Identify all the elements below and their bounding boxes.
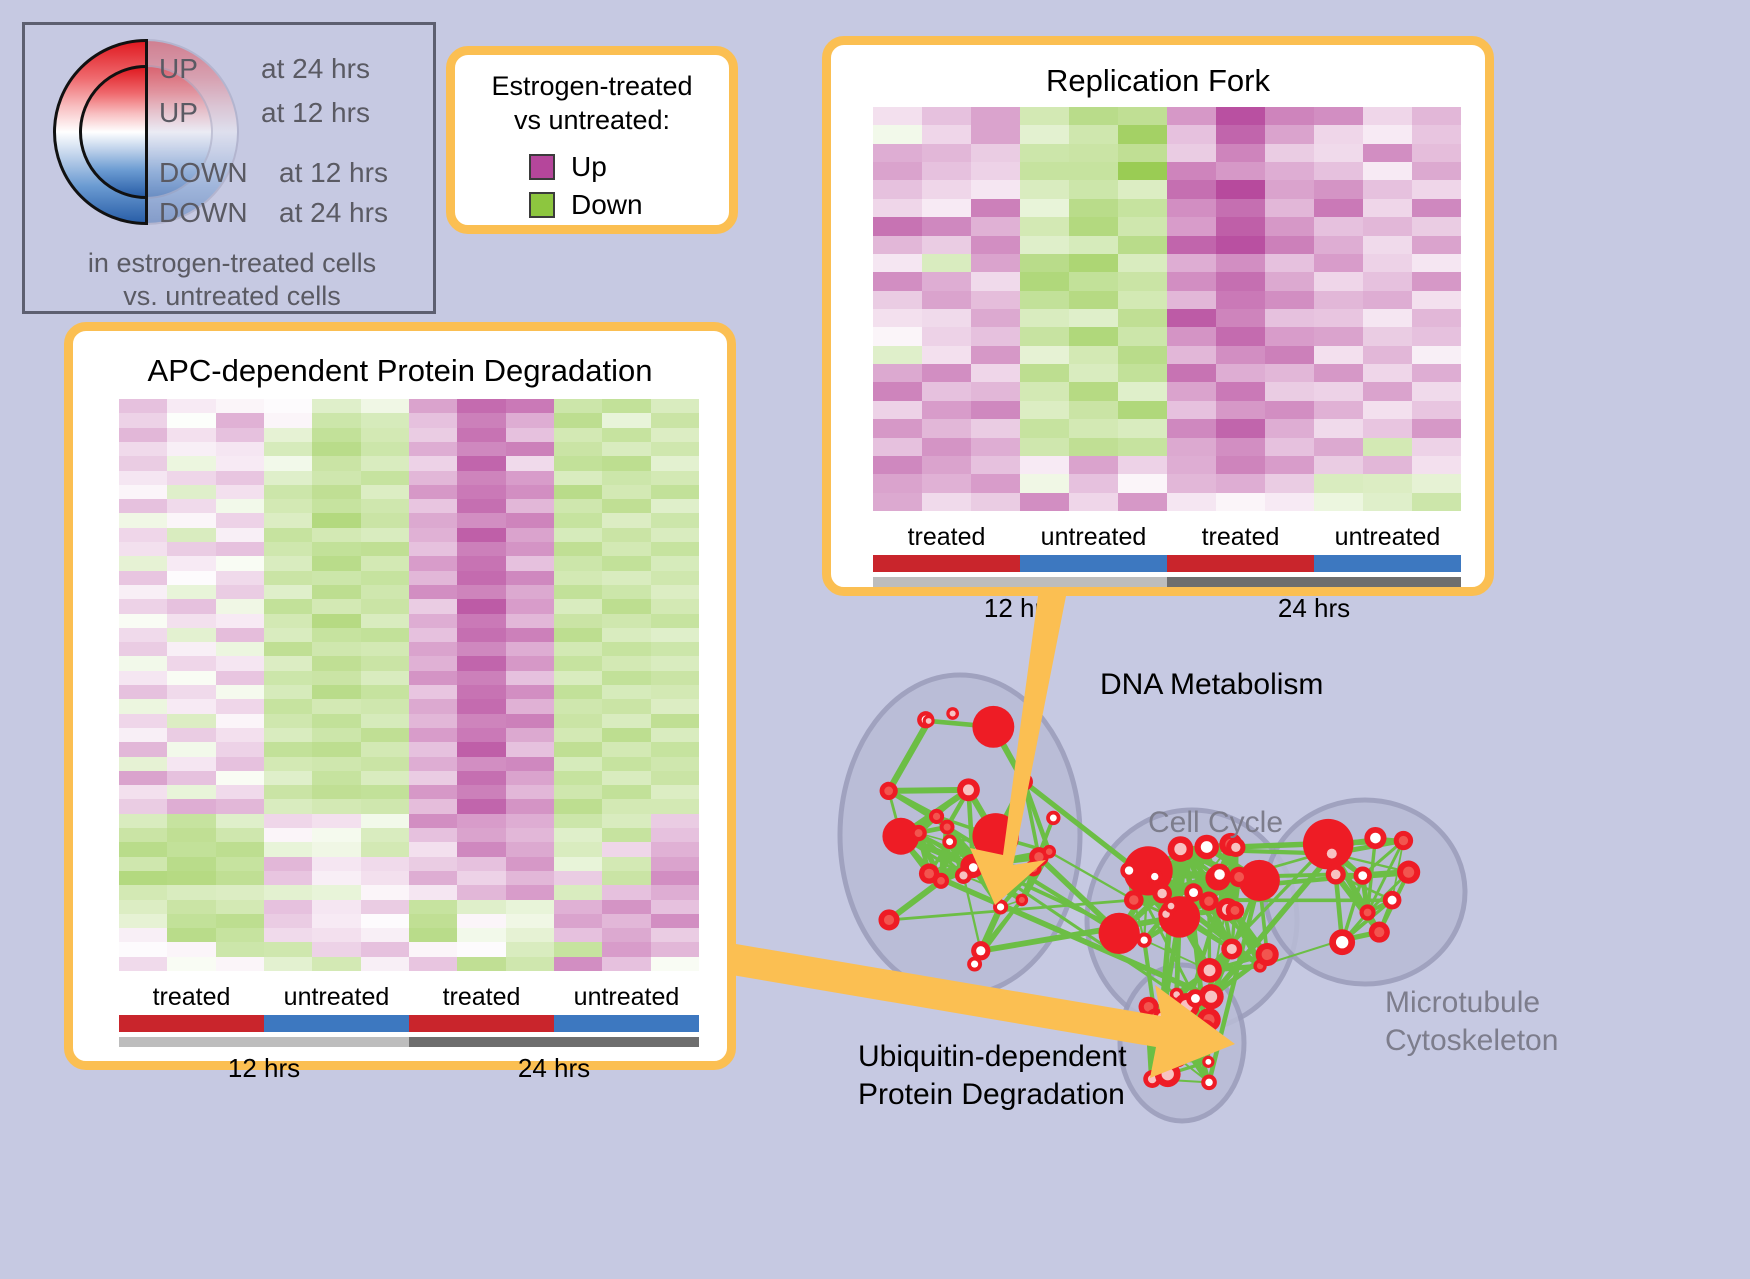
heatmap-cell — [457, 699, 505, 713]
heatmap-cell — [361, 528, 409, 542]
rep-bar-12hrs — [873, 577, 1167, 587]
heatmap-cell — [602, 814, 650, 828]
heatmap-cell — [1363, 438, 1412, 456]
heatmap-cell — [312, 513, 360, 527]
network-node[interactable] — [1354, 866, 1372, 884]
heatmap-cell — [167, 413, 215, 427]
node-inner-fill — [1029, 864, 1037, 872]
heatmap-cell — [312, 757, 360, 771]
network-node[interactable] — [1137, 933, 1152, 948]
heatmap-cell — [554, 585, 602, 599]
heatmap-cell — [1314, 327, 1363, 345]
network-node[interactable] — [955, 867, 972, 884]
node-inner-fill — [1174, 843, 1186, 855]
node-inner-fill — [944, 823, 951, 830]
rep-axis-label-2: treated — [1167, 523, 1314, 552]
heatmap-cell — [409, 728, 457, 742]
heatmap-cell — [602, 714, 650, 728]
heatmap-cell — [1167, 236, 1216, 254]
heatmap-cell — [1167, 199, 1216, 217]
legend-time-down-24: at 24 hrs — [279, 197, 388, 229]
heatmap-cell — [1314, 162, 1363, 180]
heatmap-cell — [971, 456, 1020, 474]
heatmap-cell — [1314, 180, 1363, 198]
heatmap-cell — [1412, 272, 1461, 290]
network-node[interactable] — [880, 782, 898, 800]
heatmap-cell — [602, 413, 650, 427]
heatmap-cell — [264, 656, 312, 670]
heatmap-cell — [506, 942, 554, 956]
heatmap-cell — [554, 771, 602, 785]
heatmap-cell — [409, 413, 457, 427]
heatmap-cell — [216, 842, 264, 856]
heatmap-cell — [1020, 327, 1069, 345]
node-inner-fill — [1158, 1013, 1166, 1021]
heatmap-cell — [602, 728, 650, 742]
network-node[interactable] — [1015, 773, 1033, 791]
heatmap-cell — [167, 628, 215, 642]
node-inner-fill — [976, 946, 985, 955]
network-node[interactable] — [1152, 884, 1172, 904]
heatmap-cell — [651, 914, 699, 928]
network-node[interactable] — [1197, 958, 1222, 983]
heatmap-cell — [554, 714, 602, 728]
network-node[interactable] — [1194, 1019, 1215, 1040]
heatmap-cell — [602, 485, 650, 499]
heatmap-cell — [651, 742, 699, 756]
node-inner-fill — [1214, 869, 1224, 879]
node-inner-fill — [1205, 1059, 1211, 1065]
network-node[interactable] — [1201, 1075, 1217, 1091]
heatmap-cell — [1020, 162, 1069, 180]
heatmap-cell — [457, 814, 505, 828]
heatmap-cell — [1314, 419, 1363, 437]
network-node[interactable] — [1326, 864, 1346, 884]
heatmap-cell — [1020, 364, 1069, 382]
heatmap-cell — [602, 699, 650, 713]
heatmap-cell — [264, 799, 312, 813]
heatmap-cell — [457, 599, 505, 613]
heatmap-cell — [971, 493, 1020, 511]
heatmap-cell — [264, 399, 312, 413]
heatmap-cell — [873, 474, 922, 492]
network-node[interactable] — [942, 834, 957, 849]
heatmap-cell — [554, 814, 602, 828]
heatmap-cell — [1167, 254, 1216, 272]
heatmap-cell — [506, 499, 554, 513]
network-node[interactable] — [1359, 904, 1375, 920]
network-node[interactable] — [1209, 864, 1231, 886]
heatmap-cell — [922, 419, 971, 437]
heatmap-cell — [602, 957, 650, 971]
apc-bar-24hrs — [409, 1037, 699, 1047]
node-inner-fill — [1364, 909, 1372, 917]
heatmap-cell — [119, 814, 167, 828]
heatmap-cell — [409, 771, 457, 785]
network-node[interactable] — [940, 820, 955, 835]
heatmap-cell — [409, 542, 457, 556]
network-node[interactable] — [1202, 1056, 1214, 1068]
pathway-network-diagram: DNA Metabolism Cell Cycle Microtubule Cy… — [800, 620, 1560, 1120]
heatmap-cell — [1363, 217, 1412, 235]
heatmap-cell — [216, 671, 264, 685]
heatmap-cell — [457, 685, 505, 699]
heatmap-cell — [361, 485, 409, 499]
heatmap-cell — [602, 742, 650, 756]
heatmap-cell — [1412, 346, 1461, 364]
heatmap-cell — [506, 599, 554, 613]
heatmap-cell — [361, 714, 409, 728]
heatmap-cell — [409, 599, 457, 613]
heatmap-cell — [971, 107, 1020, 125]
heatmap-cell — [1167, 382, 1216, 400]
heatmap-cell — [264, 757, 312, 771]
heatmap-cell — [409, 513, 457, 527]
heatmap-cell — [361, 928, 409, 942]
heatmap-cell — [1216, 199, 1265, 217]
heatmap-cell — [216, 900, 264, 914]
heatmap-cell — [457, 957, 505, 971]
heatmap-cell — [602, 842, 650, 856]
heatmap-cell — [1167, 162, 1216, 180]
heatmap-cell — [119, 871, 167, 885]
network-node[interactable] — [1329, 929, 1355, 955]
heatmap-cell — [167, 814, 215, 828]
network-node[interactable] — [1364, 827, 1386, 849]
heatmap-cell — [167, 471, 215, 485]
heatmap-cell — [1363, 346, 1412, 364]
heatmap-cell — [602, 671, 650, 685]
heatmap-cell — [167, 599, 215, 613]
network-node[interactable] — [1321, 843, 1342, 864]
heatmap-cell — [506, 771, 554, 785]
heatmap-cell — [971, 254, 1020, 272]
heatmap-cell — [216, 728, 264, 742]
heatmap-cell — [1412, 162, 1461, 180]
heatmap-cell — [1314, 254, 1363, 272]
heatmap-cell — [264, 928, 312, 942]
heatmap-cell — [602, 471, 650, 485]
heatmap-cell — [216, 957, 264, 971]
heatmap-cell — [216, 885, 264, 899]
heatmap-cell — [506, 871, 554, 885]
heatmap-cell — [1069, 291, 1118, 309]
heatmap-cell — [312, 742, 360, 756]
heatmap-cell — [264, 814, 312, 828]
network-node[interactable] — [878, 909, 899, 930]
network-node[interactable] — [1383, 891, 1402, 910]
network-node[interactable] — [993, 899, 1008, 914]
node-inner-fill — [926, 718, 932, 724]
heatmap-cell — [457, 642, 505, 656]
heatmap-cell — [873, 493, 922, 511]
heatmap-cell — [506, 556, 554, 570]
heatmap-cell — [971, 180, 1020, 198]
heatmap-cell — [554, 942, 602, 956]
heatmap-cell — [361, 456, 409, 470]
key-label-down: Down — [571, 189, 643, 221]
heatmap-cell — [922, 199, 971, 217]
network-node[interactable] — [1155, 1061, 1181, 1087]
heatmap-cell — [1412, 291, 1461, 309]
heatmap-cell — [361, 642, 409, 656]
network-node[interactable] — [1046, 811, 1060, 825]
heatmap-cell — [1265, 474, 1314, 492]
network-node[interactable] — [910, 825, 926, 841]
legend-caption-line1: in estrogen-treated cells — [25, 247, 439, 280]
heatmap-cell — [361, 914, 409, 928]
heatmap-cell — [119, 671, 167, 685]
heatmap-cell — [1069, 327, 1118, 345]
network-node[interactable] — [946, 707, 959, 720]
heatmap-cell — [1020, 456, 1069, 474]
heatmap-cell — [216, 599, 264, 613]
heatmap-cell — [1020, 180, 1069, 198]
heatmap-cell — [119, 556, 167, 570]
heatmap-cell — [1118, 401, 1167, 419]
heatmap-cell — [554, 757, 602, 771]
heatmap-cell — [651, 614, 699, 628]
heatmap-cell — [1314, 364, 1363, 382]
network-node[interactable] — [933, 873, 949, 889]
heatmap-cell — [554, 456, 602, 470]
heatmap-cell — [602, 900, 650, 914]
heatmap-cell — [1118, 236, 1167, 254]
network-node[interactable] — [972, 706, 1014, 748]
heatmap-cell — [312, 499, 360, 513]
heatmap-cell — [361, 699, 409, 713]
heatmap-cell — [873, 254, 922, 272]
network-node[interactable] — [1042, 845, 1056, 859]
network-node[interactable] — [1147, 869, 1162, 884]
heatmap-cell — [602, 556, 650, 570]
network-node[interactable] — [1120, 862, 1137, 879]
node-inner-fill — [1151, 873, 1158, 880]
heatmap-cell — [1363, 107, 1412, 125]
heatmap-cell — [264, 857, 312, 871]
heatmap-cell — [312, 814, 360, 828]
heatmap-cell — [922, 291, 971, 309]
heatmap-cell — [216, 942, 264, 956]
network-node[interactable] — [972, 813, 1018, 859]
heatmap-cell — [971, 272, 1020, 290]
heatmap-cell — [1118, 438, 1167, 456]
heatmap-cell — [216, 928, 264, 942]
heatmap-cell — [312, 942, 360, 956]
cluster-label-protein-degradation: Protein Degradation — [858, 1078, 1125, 1112]
heatmap-cell — [922, 254, 971, 272]
heatmap-cell — [409, 628, 457, 642]
node-inner-fill — [950, 710, 956, 716]
heatmap-cell — [1118, 217, 1167, 235]
heatmap-cell — [457, 399, 505, 413]
heatmap-cell — [167, 771, 215, 785]
node-inner-fill — [1336, 936, 1348, 948]
heatmap-cell — [1167, 456, 1216, 474]
heatmap-cell — [457, 542, 505, 556]
heatmap-cell — [506, 814, 554, 828]
heatmap-cell — [922, 144, 971, 162]
heatmap-cell — [1412, 144, 1461, 162]
heatmap-cell — [651, 585, 699, 599]
replication-fork-title: Replication Fork — [831, 63, 1485, 99]
heatmap-cell — [312, 471, 360, 485]
heatmap-cell — [119, 799, 167, 813]
heatmap-cell — [216, 871, 264, 885]
heatmap-cell — [119, 585, 167, 599]
network-node[interactable] — [1229, 867, 1250, 888]
heatmap-cell — [312, 571, 360, 585]
heatmap-cell — [651, 685, 699, 699]
heatmap-cell — [1216, 272, 1265, 290]
network-node[interactable] — [957, 778, 980, 801]
heatmap-cell — [216, 485, 264, 499]
apc-bar-treated-24 — [409, 1015, 554, 1032]
heatmap-cell — [167, 885, 215, 899]
cluster-label-ubiquitin: Ubiquitin-dependent — [858, 1040, 1127, 1074]
heatmap-cell — [1412, 401, 1461, 419]
network-node[interactable] — [1016, 894, 1029, 907]
heatmap-cell — [119, 928, 167, 942]
heatmap-cell — [554, 599, 602, 613]
network-node[interactable] — [1186, 989, 1205, 1008]
heatmap-cell — [361, 799, 409, 813]
heatmap-cell — [1020, 291, 1069, 309]
network-node[interactable] — [1221, 938, 1242, 959]
network-edge — [889, 790, 969, 791]
heatmap-cell — [1069, 272, 1118, 290]
apc-axis-label-0: treated — [119, 983, 264, 1012]
network-node[interactable] — [1256, 943, 1279, 966]
heatmap-cell — [264, 685, 312, 699]
heatmap-cell — [506, 685, 554, 699]
network-node[interactable] — [1394, 831, 1413, 850]
heatmap-cell — [1069, 125, 1118, 143]
node-inner-fill — [963, 784, 974, 795]
heatmap-cell — [409, 957, 457, 971]
network-node[interactable] — [1226, 901, 1244, 919]
heatmap-cell — [1167, 419, 1216, 437]
network-node[interactable] — [971, 941, 990, 960]
heatmap-cell — [651, 471, 699, 485]
heatmap-cell — [1118, 493, 1167, 511]
heatmap-cell — [1314, 291, 1363, 309]
heatmap-cell — [554, 842, 602, 856]
heatmap-cell — [971, 474, 1020, 492]
heatmap-cell — [312, 728, 360, 742]
heatmap-cell — [1216, 493, 1265, 511]
heatmap-cell — [216, 399, 264, 413]
heatmap-cell — [119, 699, 167, 713]
network-node[interactable] — [1154, 1009, 1170, 1025]
heatmap-cell — [457, 413, 505, 427]
heatmap-cell — [457, 556, 505, 570]
heatmap-cell — [602, 857, 650, 871]
network-node[interactable] — [1168, 836, 1194, 862]
heatmap-cell — [602, 499, 650, 513]
network-node[interactable] — [1199, 891, 1218, 910]
network-node[interactable] — [1025, 860, 1041, 876]
node-inner-fill — [915, 829, 923, 837]
heatmap-cell — [264, 699, 312, 713]
heatmap-cell — [216, 699, 264, 713]
heatmap-cell — [457, 442, 505, 456]
heatmap-cell — [1020, 254, 1069, 272]
network-node[interactable] — [1099, 913, 1140, 954]
heatmap-cell — [216, 442, 264, 456]
heatmap-cell — [457, 742, 505, 756]
heatmap-cell — [361, 556, 409, 570]
heatmap-cell — [1363, 327, 1412, 345]
heatmap-cell — [554, 428, 602, 442]
heatmap-cell — [506, 471, 554, 485]
heatmap-cell — [554, 485, 602, 499]
heatmap-cell — [1363, 144, 1412, 162]
heatmap-cell — [554, 614, 602, 628]
heatmap-cell — [312, 828, 360, 842]
heatmap-cell — [1412, 438, 1461, 456]
heatmap-cell — [361, 828, 409, 842]
heatmap-cell — [264, 885, 312, 899]
heatmap-cell — [1412, 180, 1461, 198]
heatmap-cell — [119, 842, 167, 856]
network-node[interactable] — [1369, 922, 1390, 943]
heatmap-cell — [216, 528, 264, 542]
heatmap-cell — [264, 542, 312, 556]
heatmap-cell — [409, 456, 457, 470]
heatmap-cell — [554, 799, 602, 813]
heatmap-cell — [873, 217, 922, 235]
heatmap-cell — [651, 499, 699, 513]
heatmap-cell — [506, 614, 554, 628]
heatmap-cell — [361, 499, 409, 513]
heatmap-cell — [457, 771, 505, 785]
heatmap-cell — [1363, 162, 1412, 180]
heatmap-cell — [216, 656, 264, 670]
network-node[interactable] — [1397, 861, 1420, 884]
heatmap-cell — [651, 528, 699, 542]
heatmap-cell — [167, 542, 215, 556]
node-inner-fill — [1204, 897, 1213, 906]
heatmap-cell — [1363, 291, 1412, 309]
heatmap-cell — [361, 900, 409, 914]
node-inner-fill — [1129, 895, 1138, 904]
node-inner-fill — [946, 838, 953, 845]
heatmap-cell — [1069, 107, 1118, 125]
heatmap-cell — [1363, 401, 1412, 419]
heatmap-cell — [1265, 456, 1314, 474]
network-node[interactable] — [1124, 890, 1144, 910]
heatmap-cell — [971, 199, 1020, 217]
heatmap-cell — [361, 871, 409, 885]
network-node[interactable] — [923, 715, 935, 727]
heatmap-cell — [873, 236, 922, 254]
heatmap-cell — [409, 585, 457, 599]
heatmap-cell — [971, 125, 1020, 143]
heatmap-cell — [216, 413, 264, 427]
heatmap-cell — [971, 236, 1020, 254]
heatmap-cell — [651, 599, 699, 613]
network-node[interactable] — [929, 809, 944, 824]
heatmap-cell — [1167, 438, 1216, 456]
network-node[interactable] — [1172, 1031, 1184, 1043]
heatmap-cell — [264, 614, 312, 628]
heatmap-cell — [602, 599, 650, 613]
network-node[interactable] — [1226, 838, 1245, 857]
heatmap-cell — [457, 585, 505, 599]
heatmap-cell — [651, 857, 699, 871]
node-inner-fill — [971, 961, 978, 968]
